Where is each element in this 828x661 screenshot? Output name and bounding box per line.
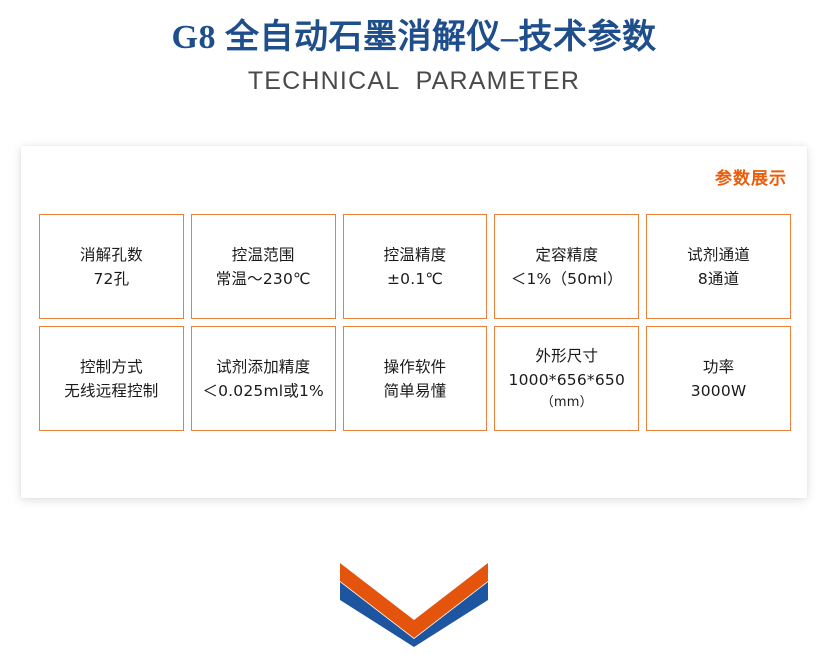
parameter-cell-volume-accuracy: 定容精度 ＜1%（50ml） bbox=[494, 214, 639, 319]
page-title: G8 全自动石墨消解仪–技术参数 bbox=[0, 16, 828, 60]
parameter-label: 试剂通道 bbox=[687, 243, 750, 267]
parameter-label: 外形尺寸 bbox=[535, 344, 598, 368]
parameter-value: 1000*656*650 bbox=[509, 368, 626, 392]
parameter-cell-dimensions: 外形尺寸 1000*656*650 （mm） bbox=[494, 326, 639, 431]
parameter-row: 控制方式 无线远程控制 试剂添加精度 ＜0.025ml或1% 操作软件 简单易懂… bbox=[39, 326, 791, 431]
parameter-cell-digestion-holes: 消解孔数 72孔 bbox=[39, 214, 184, 319]
parameter-label: 定容精度 bbox=[535, 243, 598, 267]
parameter-row: 消解孔数 72孔 控温范围 常温〜230℃ 控温精度 ±0.1℃ 定容精度 ＜1… bbox=[39, 214, 791, 319]
parameter-cell-operating-software: 操作软件 简单易懂 bbox=[343, 326, 488, 431]
parameter-value: 72孔 bbox=[93, 267, 129, 291]
parameter-cell-power: 功率 3000W bbox=[646, 326, 791, 431]
parameter-grid: 消解孔数 72孔 控温范围 常温〜230℃ 控温精度 ±0.1℃ 定容精度 ＜1… bbox=[39, 214, 791, 431]
parameter-cell-temperature-range: 控温范围 常温〜230℃ bbox=[191, 214, 336, 319]
parameter-cell-temperature-accuracy: 控温精度 ±0.1℃ bbox=[343, 214, 488, 319]
page-header: G8 全自动石墨消解仪–技术参数 TECHNICAL PARAMETER bbox=[0, 16, 828, 96]
parameter-label: 试剂添加精度 bbox=[216, 355, 310, 379]
chevron-group bbox=[340, 563, 488, 647]
page-subtitle: TECHNICAL PARAMETER bbox=[0, 66, 828, 96]
parameter-value: ＜0.025ml或1% bbox=[202, 379, 324, 403]
parameter-value: 简单易懂 bbox=[384, 379, 447, 403]
parameter-cell-reagent-dosing-accuracy: 试剂添加精度 ＜0.025ml或1% bbox=[191, 326, 336, 431]
parameter-value: 8通道 bbox=[698, 267, 739, 291]
parameter-cell-reagent-channels: 试剂通道 8通道 bbox=[646, 214, 791, 319]
parameter-label: 功率 bbox=[703, 355, 734, 379]
parameter-label: 控温范围 bbox=[232, 243, 295, 267]
parameter-card: 参数展示 消解孔数 72孔 控温范围 常温〜230℃ 控温精度 ±0.1℃ 定容… bbox=[21, 146, 807, 498]
parameter-label: 消解孔数 bbox=[80, 243, 143, 267]
parameter-unit: （mm） bbox=[541, 392, 593, 413]
parameter-label: 操作软件 bbox=[384, 355, 447, 379]
footer-decoration bbox=[0, 558, 828, 648]
section-label-parameter-display: 参数展示 bbox=[715, 168, 787, 190]
parameter-label: 控制方式 bbox=[80, 355, 143, 379]
double-chevron-down-icon bbox=[334, 558, 494, 648]
parameter-value: 无线远程控制 bbox=[64, 379, 158, 403]
parameter-cell-control-method: 控制方式 无线远程控制 bbox=[39, 326, 184, 431]
parameter-value: ＜1%（50ml） bbox=[511, 267, 623, 291]
parameter-value: 常温〜230℃ bbox=[216, 267, 311, 291]
parameter-label: 控温精度 bbox=[384, 243, 447, 267]
parameter-value: ±0.1℃ bbox=[387, 267, 443, 291]
technical-parameter-page: G8 全自动石墨消解仪–技术参数 TECHNICAL PARAMETER 参数展… bbox=[0, 0, 828, 661]
parameter-value: 3000W bbox=[691, 379, 747, 403]
